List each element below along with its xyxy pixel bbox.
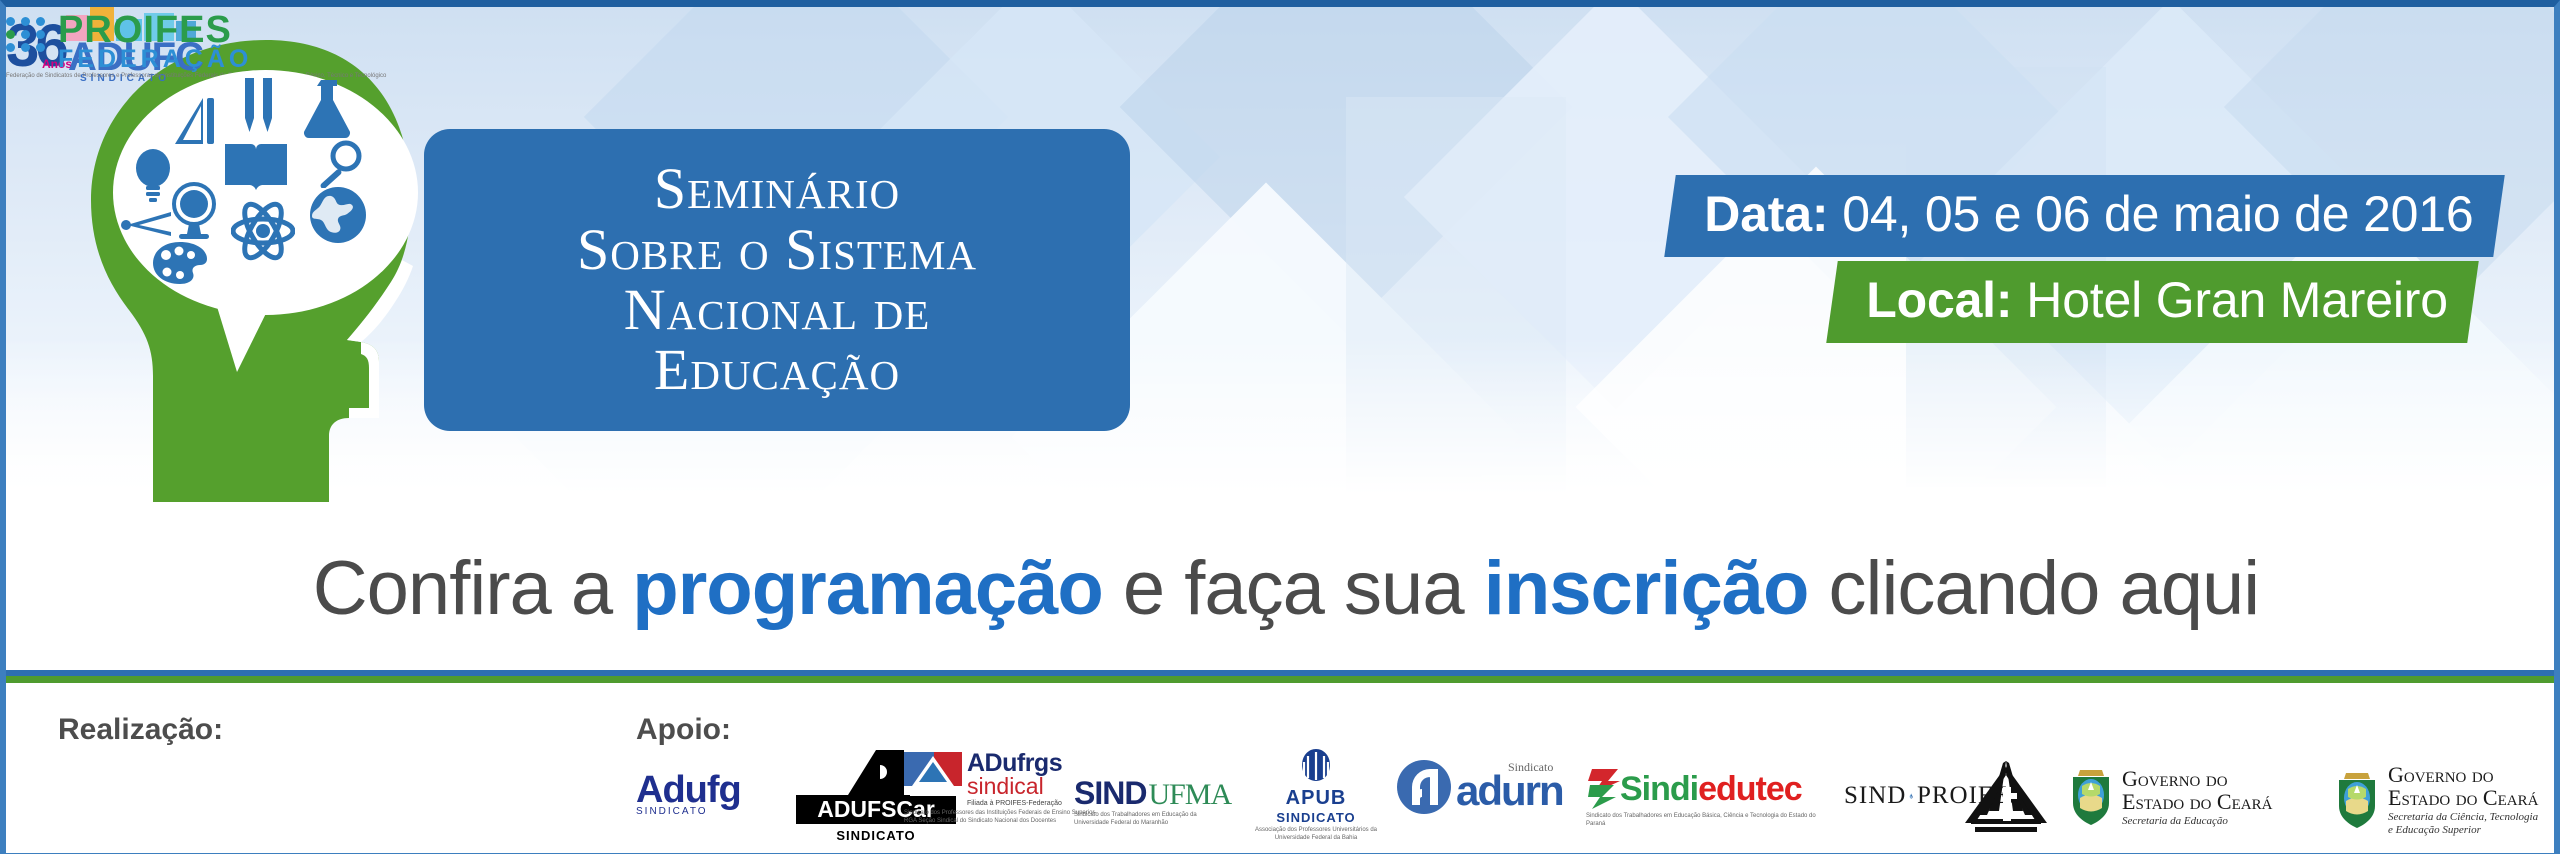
sindiedutec-fineprint: Sindicato dos Trabalhadores em Educação … (1586, 813, 1816, 828)
date-value: 04, 05 e 06 de maio de 2016 (1842, 185, 2473, 243)
sindiedutec-word2: edutec (1698, 770, 1802, 809)
globe-stand-icon (171, 182, 217, 242)
head-brain-logo (61, 32, 481, 502)
logo-sindiedutec: Sindi edutec Sindicato dos Trabalhadores… (1586, 767, 1816, 828)
globe-icon (309, 186, 367, 244)
governo-line2: Estado do Ceará (2122, 790, 2272, 813)
date-ribbon: Data: 04, 05 e 06 de maio de 2016 (1664, 175, 2504, 257)
sind-proifes-flame-icon (1909, 779, 1914, 813)
title-line-4: Educação (654, 340, 900, 400)
realizacao-label: Realização: (58, 713, 223, 747)
proifes-dots-icon (6, 17, 47, 52)
open-book-icon (225, 142, 287, 192)
sindufma-wordmark2: UFMA (1148, 778, 1231, 812)
apub-sublabel: SINDICATO (1246, 810, 1386, 825)
local-value: Hotel Gran Mareiro (2026, 271, 2448, 329)
apub-fineprint: Associação dos Professores Universitário… (1246, 827, 1386, 842)
adurn-mark-icon (1396, 759, 1452, 815)
sind-proifes-word1: SIND (1844, 782, 1906, 810)
flask-icon (303, 80, 355, 138)
logo-sindufma: SIND UFMA Sindicato dos Trabalhadores em… (1074, 775, 1224, 827)
event-banner: Seminário Sobre o Sistema Nacional de Ed… (0, 0, 2560, 854)
adurn-wordmark: adurn (1456, 767, 1563, 815)
atom-icon (231, 200, 295, 262)
adufscar-sublabel: SINDICATO (796, 828, 956, 843)
cta-text-part3: clicando aqui (1808, 546, 2259, 631)
adufrgs-mark-icon (904, 752, 962, 804)
logo-governo-ceara-educacao: Governo do Estado do Ceará Secretaria da… (2068, 767, 2318, 827)
sindiedutec-mark-icon (1586, 767, 1622, 811)
logo-adufg: Adufg SINDICATO (636, 769, 786, 817)
logo-emblem-black (1961, 759, 2051, 844)
adufscar-mark-icon (846, 749, 906, 797)
sindiedutec-word1: Sindi (1620, 770, 1698, 809)
logo-adurn: Sindicato adurn (1396, 759, 1586, 815)
cta-text-part2: e faça sua (1103, 546, 1484, 631)
governo-line4: e Educação Superior (2388, 824, 2538, 837)
ceara-coat-of-arms-icon (2068, 768, 2114, 826)
local-label: Local: (1866, 271, 2012, 329)
call-to-action-link[interactable]: Confira a programação e faça sua inscriç… (6, 545, 2560, 632)
local-ribbon: Local: Hotel Gran Mareiro (1826, 261, 2479, 343)
education-icon-cluster (113, 70, 418, 315)
logo-apub: APUB SINDICATO Associação dos Professore… (1246, 747, 1386, 842)
emblem-rays-icon (1961, 759, 2051, 839)
logo-governo-ceara-ciencia: Governo do Estado do Ceará Secretaria da… (2334, 763, 2560, 838)
date-label: Data: (1704, 185, 1828, 243)
event-title-plate: Seminário Sobre o Sistema Nacional de Ed… (424, 129, 1130, 431)
apub-wordmark: APUB (1246, 787, 1386, 810)
apub-mark-icon (1296, 747, 1336, 785)
cta-strong-programacao[interactable]: programação (632, 546, 1103, 631)
sindufma-fineprint: Sindicato dos Trabalhadores em Educação … (1074, 812, 1224, 827)
title-line-2: Sobre o Sistema (577, 220, 977, 280)
palette-icon (153, 242, 207, 284)
governo-line3: Secretaria da Educação (2122, 815, 2272, 827)
pens-icon (241, 78, 277, 136)
governo-line1: Governo do (2122, 767, 2272, 790)
set-square-icon (175, 98, 219, 144)
compass-icon (121, 210, 175, 238)
lightbulb-icon (135, 148, 171, 202)
ceara-coat-of-arms-icon (2334, 771, 2380, 829)
governo-line2: Estado do Ceará (2388, 786, 2538, 809)
cta-strong-inscricao[interactable]: inscrição (1484, 546, 1809, 631)
adufrgs-sublabel: Filiada à PROIFES-Federação (967, 800, 1062, 807)
event-info-ribbons: Data: 04, 05 e 06 de maio de 2016 Local:… (1670, 175, 2499, 343)
cta-text-part1: Confira a (313, 546, 633, 631)
apoio-label: Apoio: (636, 713, 731, 747)
sindufma-wordmark: SIND (1074, 775, 1146, 812)
magnifier-icon (318, 140, 364, 188)
title-line-1: Seminário (654, 159, 900, 219)
governo-line3: Secretaria da Ciência, Tecnologia (2388, 811, 2538, 824)
governo-line1: Governo do (2388, 763, 2538, 786)
title-line-3: Nacional de (624, 280, 931, 340)
separator-green (6, 676, 2560, 683)
